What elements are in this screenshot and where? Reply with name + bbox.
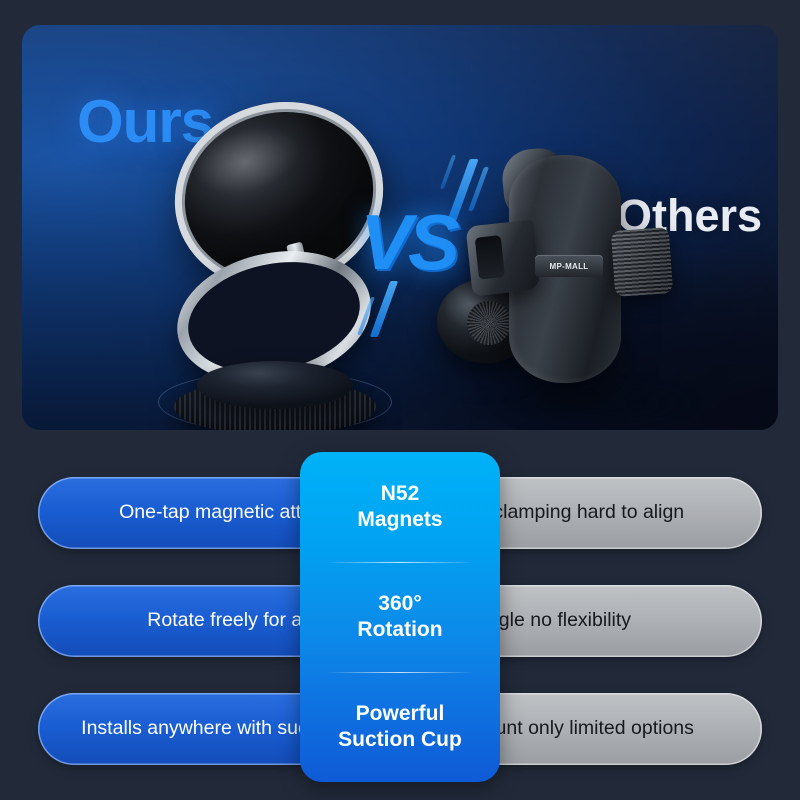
product-shadow [465, 377, 701, 429]
product-comparison-page: Ours Others VS [0, 0, 800, 800]
feature-cell: 360° Rotation [300, 562, 500, 672]
suction-base-upper [197, 361, 353, 409]
feature-highlight-column: N52 Magnets 360° Rotation Powerful Sucti… [300, 452, 500, 782]
feature-line-1: 360° [378, 591, 421, 617]
comparison-table: One-tap magnetic attachment Manual clamp… [0, 440, 800, 790]
feature-cell: Powerful Suction Cup [300, 672, 500, 782]
competitor-brand-label: MP-MALL [550, 262, 589, 271]
clamp-right-jaw [611, 227, 673, 297]
feature-line-1: N52 [381, 481, 420, 507]
hero-panel: Ours Others VS [22, 25, 778, 430]
feature-cell: N52 Magnets [300, 452, 500, 562]
feature-line-2: Suction Cup [338, 727, 462, 753]
feature-line-2: Rotation [357, 617, 442, 643]
others-product-image: MP-MALL [437, 155, 727, 430]
clamp-left-jaw [466, 220, 541, 297]
competitor-brand-badge: MP-MALL [535, 255, 603, 277]
lightning-accent [370, 281, 398, 337]
feature-line-1: Powerful [356, 701, 445, 727]
feature-line-2: Magnets [357, 507, 442, 533]
